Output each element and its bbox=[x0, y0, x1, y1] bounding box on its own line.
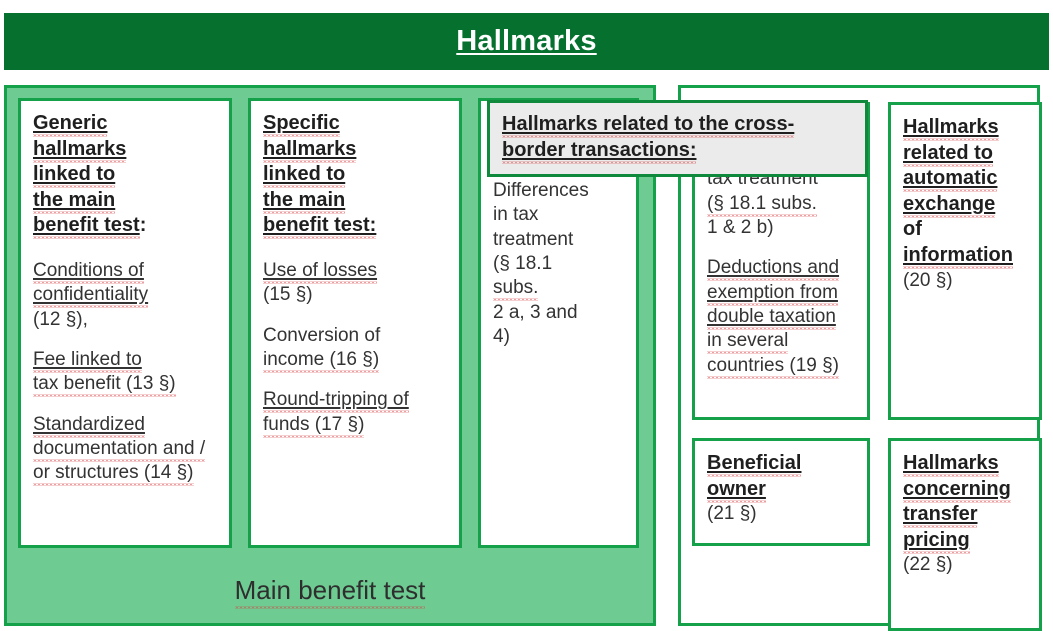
cross-border-header-box: Hallmarks related to the cross- border t… bbox=[487, 100, 868, 177]
automatic-exchange-reference: (20 §) bbox=[903, 269, 1027, 293]
specific-hallmarks-item-2: Conversion of income (16 §) bbox=[263, 324, 447, 373]
generic-hallmarks-item-1: Conditions of confidentiality (12 §), bbox=[33, 259, 217, 332]
page-header-bar: Hallmarks bbox=[4, 13, 1049, 70]
specific-hallmarks-item-1: Use of losses (15 §) bbox=[263, 259, 447, 308]
main-benefit-test-footer: Main benefit test bbox=[7, 558, 653, 626]
specific-hallmarks-box: Specific hallmarks linked to the main be… bbox=[248, 98, 462, 548]
main-benefit-test-label: Main benefit test bbox=[235, 575, 426, 609]
deductions-exemption-item: Deductions and exemption from double tax… bbox=[707, 256, 855, 378]
specific-hallmarks-item-3: Round-tripping of funds (17 §) bbox=[263, 388, 447, 437]
beneficial-owner-heading: Beneficial owner bbox=[707, 451, 855, 502]
automatic-exchange-box: Hallmarks related to automatic exchange … bbox=[888, 102, 1042, 420]
cross-border-column-a: Differences in tax treatment (§ 18.1 sub… bbox=[692, 102, 870, 631]
beneficial-owner-reference: (21 §) bbox=[707, 502, 855, 526]
generic-hallmarks-item-3: Standardized documentation and / or stru… bbox=[33, 413, 217, 486]
transfer-pricing-reference: (22 §) bbox=[903, 553, 1027, 577]
page-title: Hallmarks bbox=[456, 25, 596, 58]
specific-hallmarks-heading: Specific hallmarks linked to the main be… bbox=[263, 111, 447, 239]
transfer-pricing-box: Hallmarks concerning transfer pricing (2… bbox=[888, 438, 1042, 631]
beneficial-owner-box: Beneficial owner (21 §) bbox=[692, 438, 870, 546]
generic-hallmarks-heading: Generic hallmarks linked to the main ben… bbox=[33, 111, 217, 239]
transfer-pricing-heading: Hallmarks concerning transfer pricing bbox=[903, 451, 1027, 553]
automatic-exchange-heading: Hallmarks related to automatic exchange … bbox=[903, 115, 1027, 269]
generic-hallmarks-item-2: Fee linked to tax benefit (13 §) bbox=[33, 348, 217, 397]
cross-border-differences-item: Differences in tax treatment (§ 18.1 sub… bbox=[493, 179, 624, 349]
generic-hallmarks-box: Generic hallmarks linked to the main ben… bbox=[18, 98, 232, 548]
cross-border-header-text: Hallmarks related to the cross- border t… bbox=[502, 111, 855, 163]
cross-border-column-b: Hallmarks related to automatic exchange … bbox=[888, 102, 1042, 631]
cross-border-columns: Differences in tax treatment (§ 18.1 sub… bbox=[692, 102, 1042, 631]
